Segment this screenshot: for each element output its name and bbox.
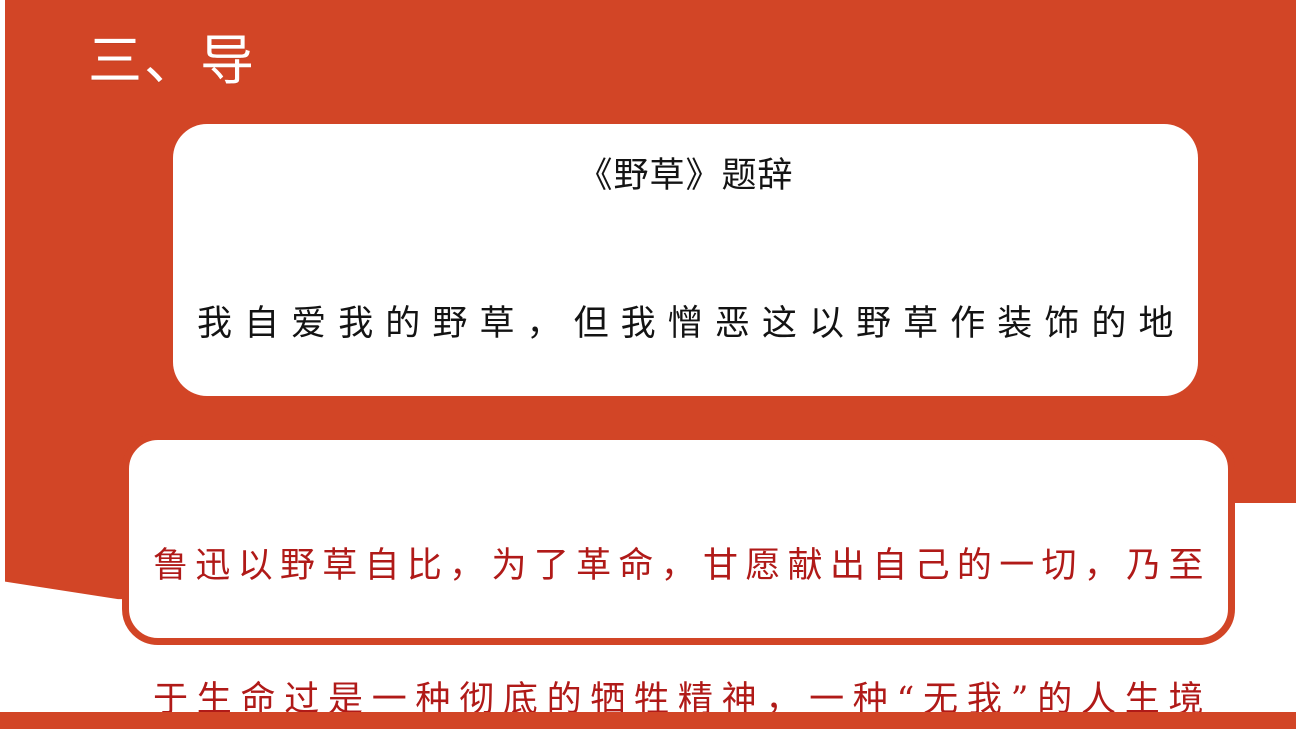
quote-card: 《野草》题辞 我自爱我的野草，但我憎恶这以野草作装饰的地 面。 地火在地下运行，… — [173, 124, 1198, 396]
commentary-body: 鲁迅以野草自比，为了革命，甘愿献出自己的一切，乃至 于生命过是一种彻底的牺牲精神… — [153, 454, 1204, 729]
slide-title: 三、导 — [88, 32, 256, 90]
commentary-card: 鲁迅以野草自比，为了革命，甘愿献出自己的一切，乃至 于生命过是一种彻底的牺牲精神… — [122, 433, 1235, 645]
bottom-accent-bar — [0, 712, 1296, 729]
quote-heading: 《野草》题辞 — [195, 154, 1176, 200]
slide-canvas: 三、导 《野草》题辞 我自爱我的野草，但我憎恶这以野草作装饰的地 面。 地火在地… — [0, 0, 1296, 729]
quote-line-1: 我自爱我的野草，但我憎恶这以野草作装饰的地 — [197, 303, 1174, 347]
commentary-line-1: 鲁迅以野草自比，为了革命，甘愿献出自己的一切，乃至 — [153, 544, 1204, 589]
